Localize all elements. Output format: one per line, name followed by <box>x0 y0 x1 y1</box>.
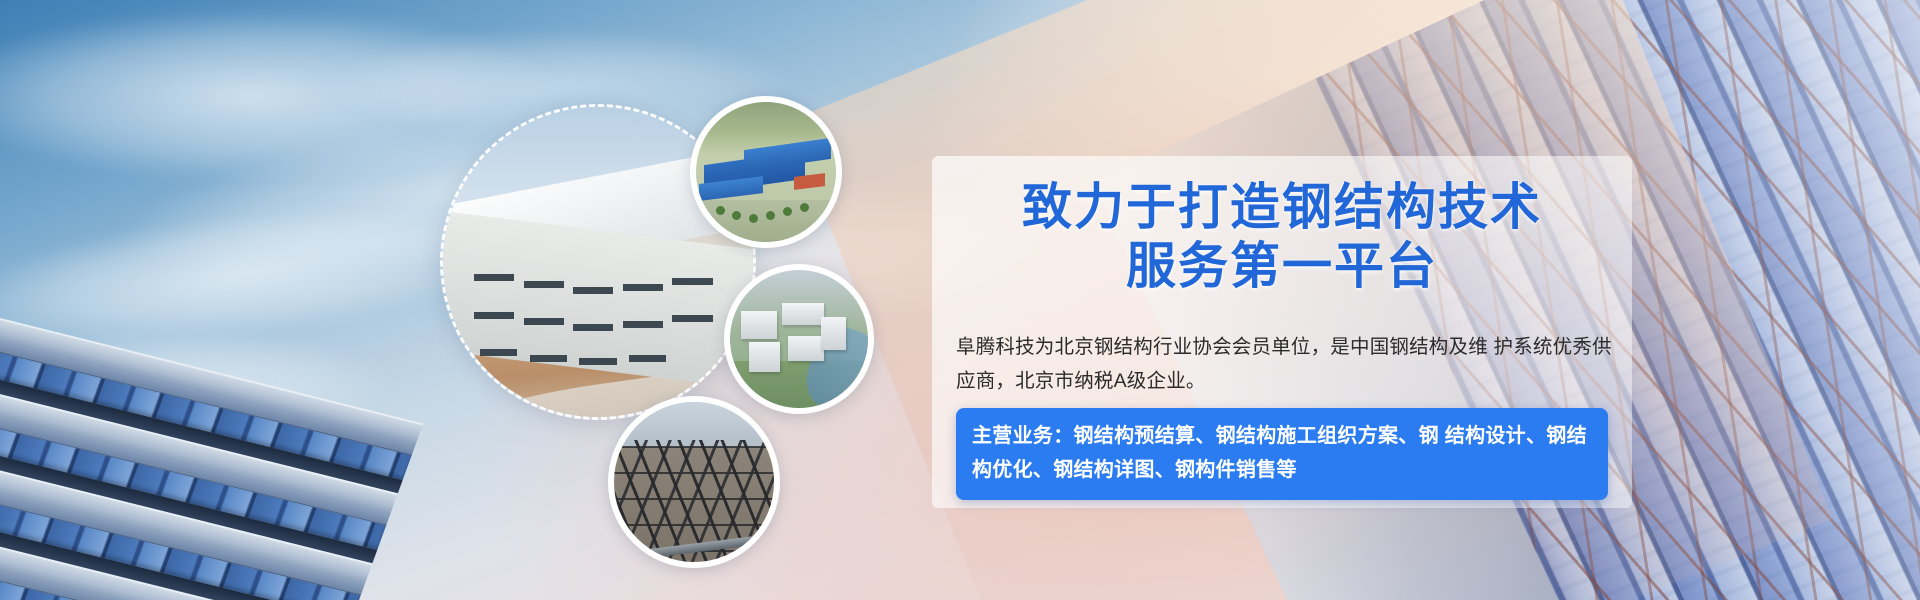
headline-line-1: 致力于打造钢结构技术 <box>1022 177 1542 236</box>
photo-window <box>579 358 616 365</box>
photo-window <box>672 278 712 285</box>
photo-sports-court <box>794 173 825 189</box>
photo-art <box>730 270 868 408</box>
photo-window <box>623 284 663 291</box>
company-description: 阜腾科技为北京钢结构行业协会会员单位，是中国钢结构及维 护系统优秀供应商，北京市… <box>956 330 1616 398</box>
photo-building-block <box>749 342 779 372</box>
photo-window <box>480 349 517 356</box>
photo-window <box>573 324 613 331</box>
headline-line-2: 服务第一平台 <box>932 237 1632 296</box>
photo-window <box>474 274 514 281</box>
photo-building-block <box>788 336 824 361</box>
photo-art <box>696 102 836 242</box>
description-line-1: 阜腾科技为北京钢结构行业协会会员单位，是中国钢结构及维 <box>956 336 1488 358</box>
photo-window <box>530 355 567 362</box>
photo-building-block <box>741 311 777 339</box>
photo-window <box>524 318 564 325</box>
photo-art <box>614 402 774 562</box>
photo-window <box>629 355 666 362</box>
photo-window <box>474 312 514 319</box>
photo-window <box>623 321 663 328</box>
photo-tree <box>716 206 725 215</box>
business-scope-badge[interactable]: 主营业务：钢结构预结算、钢结构施工组织方案、钢 结构设计、钢结构优化、钢结构详图… <box>956 408 1608 500</box>
business-line-1: 主营业务：钢结构预结算、钢结构施工组织方案、钢 <box>972 425 1439 447</box>
photo-building-block <box>782 303 823 325</box>
photo-window <box>672 315 712 322</box>
photo-tree <box>783 207 792 216</box>
photo-campus-aerial <box>724 264 874 414</box>
page-title: 致力于打造钢结构技术 服务第一平台 <box>932 178 1632 295</box>
photo-building-block <box>821 317 846 350</box>
photo-window <box>573 287 613 294</box>
photo-steel-truss <box>608 396 780 568</box>
photo-industrial-park <box>690 96 842 248</box>
photo-window <box>524 281 564 288</box>
hero-banner: 致力于打造钢结构技术 服务第一平台 阜腾科技为北京钢结构行业协会会员单位，是中国… <box>0 0 1920 600</box>
photo-tree <box>800 203 809 212</box>
